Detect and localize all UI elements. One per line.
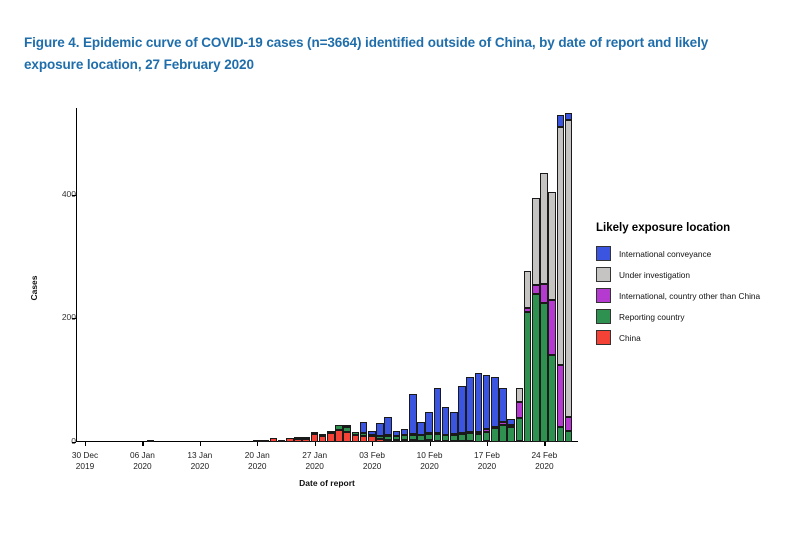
bar-segment — [557, 427, 565, 442]
bar-segment — [261, 440, 269, 442]
bar-segment — [475, 373, 483, 432]
bar — [401, 429, 409, 442]
bar-segment — [475, 434, 483, 442]
bar-segment — [327, 433, 335, 442]
bar-segment — [524, 308, 532, 312]
bar-segment — [360, 436, 368, 442]
x-tick-mark — [372, 442, 373, 446]
legend-items: International conveyanceUnder investigat… — [596, 243, 796, 348]
bar-segment — [253, 440, 261, 442]
legend-swatch — [596, 309, 611, 324]
bar — [261, 440, 269, 442]
bar-segment — [483, 375, 491, 429]
bar-segment — [434, 388, 442, 433]
bar-segment — [417, 435, 425, 441]
bar-segment — [376, 423, 384, 437]
bar-segment — [302, 439, 310, 442]
x-tick-mark — [487, 442, 488, 446]
bar — [278, 440, 286, 442]
bar — [335, 425, 343, 442]
bar-segment — [491, 426, 499, 428]
bar — [524, 271, 532, 442]
bar-segment — [532, 198, 540, 285]
bar-segment — [557, 127, 565, 365]
bar-segment — [376, 439, 384, 442]
bar — [425, 412, 433, 442]
bar-series-container — [76, 108, 578, 442]
x-tick-mark — [430, 442, 431, 446]
bar-segment — [565, 120, 573, 417]
bar-segment — [343, 432, 351, 443]
bar-segment — [499, 422, 507, 425]
bar-segment — [368, 431, 376, 435]
bar-segment — [516, 402, 524, 418]
bar-segment — [442, 407, 450, 435]
bar-segment — [352, 435, 360, 442]
bar — [466, 377, 474, 442]
bar-segment — [319, 434, 327, 436]
bar — [343, 427, 351, 442]
bar-segment — [302, 437, 310, 439]
y-tick: 400 — [36, 190, 76, 200]
bar-segment — [442, 435, 450, 441]
bar-segment — [294, 439, 302, 442]
bar-segment — [475, 432, 483, 434]
bar — [302, 438, 310, 442]
bar-segment — [499, 425, 507, 442]
bar-segment — [417, 422, 425, 434]
bar — [270, 438, 278, 442]
legend-item: China — [596, 327, 796, 348]
bar-segment — [147, 440, 155, 442]
bar-segment — [516, 388, 524, 402]
bar-segment — [507, 419, 515, 425]
bar-segment — [466, 433, 474, 442]
bar-segment — [450, 412, 458, 434]
bar-segment — [540, 173, 548, 284]
legend-item: Under investigation — [596, 264, 796, 285]
x-axis-title: Date of report — [247, 478, 407, 488]
bar-segment — [376, 436, 384, 438]
bar-segment — [483, 432, 491, 442]
bar — [491, 377, 499, 442]
bar-segment — [319, 436, 327, 442]
bar-segment — [278, 440, 286, 442]
bar — [327, 432, 335, 442]
bar-segment — [491, 428, 499, 442]
legend: Likely exposure location International c… — [596, 222, 796, 348]
bar-segment — [311, 432, 319, 434]
y-tick-mark — [72, 442, 76, 443]
bar-segment — [425, 440, 433, 442]
legend-item: International conveyance — [596, 243, 796, 264]
bar-segment — [368, 436, 376, 442]
bar — [253, 441, 261, 442]
bar — [442, 407, 450, 442]
bar — [516, 388, 524, 442]
bar-segment — [557, 365, 565, 427]
x-tick-mark — [85, 442, 86, 446]
bar-segment — [458, 386, 466, 432]
bar-segment — [352, 432, 360, 435]
bar — [434, 388, 442, 442]
bar — [409, 394, 417, 442]
bar — [319, 435, 327, 442]
legend-swatch — [596, 246, 611, 261]
legend-swatch — [596, 267, 611, 282]
bar — [376, 423, 384, 442]
legend-item: International, country other than China — [596, 285, 796, 306]
y-tick: 0 — [36, 437, 76, 447]
bar-segment — [491, 377, 499, 426]
bar — [417, 422, 425, 442]
bar — [368, 431, 376, 442]
x-tick-mark — [315, 442, 316, 446]
bar-segment — [384, 436, 392, 440]
bar-segment — [327, 431, 335, 433]
bar-segment — [548, 300, 556, 356]
bar — [507, 419, 515, 443]
bar — [475, 373, 483, 442]
bar-segment — [466, 377, 474, 431]
bar-segment — [401, 435, 409, 440]
x-tick-mark — [257, 442, 258, 446]
y-tick: 200 — [36, 313, 76, 323]
x-tick-mark — [142, 442, 143, 446]
bar — [393, 431, 401, 442]
bar-segment — [540, 303, 548, 442]
bar-segment — [360, 422, 368, 433]
bar — [294, 438, 302, 442]
bar — [286, 438, 294, 442]
bar-segment — [507, 427, 515, 442]
bar-segment — [532, 294, 540, 442]
bar-segment — [311, 434, 319, 442]
bar-segment — [524, 271, 532, 308]
bar-segment — [335, 425, 343, 430]
bar — [499, 388, 507, 442]
bar-segment — [458, 434, 466, 441]
bar-segment — [540, 284, 548, 303]
legend-item: Reporting country — [596, 306, 796, 327]
bar-segment — [524, 312, 532, 442]
legend-title: Likely exposure location — [596, 222, 796, 234]
bar-segment — [401, 440, 409, 442]
bar-segment — [384, 417, 392, 436]
bar-segment — [425, 434, 433, 440]
bar-segment — [409, 440, 417, 442]
bar — [458, 386, 466, 442]
bar-segment — [401, 429, 409, 435]
bar-segment — [565, 431, 573, 442]
bar-segment — [294, 437, 302, 439]
bar — [557, 115, 565, 442]
y-axis-title: Cases — [29, 248, 39, 328]
bar-segment — [548, 355, 556, 442]
bar-segment — [343, 425, 351, 427]
bar — [360, 422, 368, 442]
bar-segment — [335, 430, 343, 442]
bar-segment — [565, 417, 573, 431]
bar-segment — [532, 285, 540, 294]
bar — [311, 433, 319, 442]
bar-segment — [409, 394, 417, 434]
legend-label: China — [619, 333, 641, 343]
bar-segment — [368, 434, 376, 436]
bar-segment — [393, 440, 401, 442]
bar — [450, 412, 458, 442]
bar-segment — [483, 429, 491, 431]
bar-segment — [434, 434, 442, 441]
bar-segment — [393, 436, 401, 440]
legend-label: Under investigation — [619, 270, 690, 280]
bar-segment — [286, 438, 294, 442]
bar-segment — [516, 418, 524, 442]
bar — [483, 375, 491, 442]
bar-segment — [565, 113, 573, 120]
legend-label: International, country other than China — [619, 291, 760, 301]
bar-segment — [507, 425, 515, 427]
bar-segment — [393, 431, 401, 436]
x-tick-mark — [544, 442, 545, 446]
bar — [147, 441, 155, 442]
bar-segment — [360, 433, 368, 435]
legend-label: International conveyance — [619, 249, 711, 259]
x-tick-label: 24 Feb2020 — [509, 450, 579, 471]
bar — [384, 417, 392, 442]
legend-label: Reporting country — [619, 312, 685, 322]
bar-segment — [270, 438, 278, 442]
legend-swatch — [596, 288, 611, 303]
bar — [532, 198, 540, 442]
bar-segment — [499, 388, 507, 422]
bar-segment — [450, 435, 458, 441]
bar — [540, 173, 548, 442]
bar-segment — [409, 435, 417, 439]
bar — [548, 192, 556, 443]
bar-segment — [384, 440, 392, 442]
x-tick-mark — [200, 442, 201, 446]
bar-segment — [557, 115, 565, 126]
legend-swatch — [596, 330, 611, 345]
bar — [352, 432, 360, 442]
bar-segment — [425, 412, 433, 434]
bar-segment — [548, 192, 556, 300]
bar — [565, 113, 573, 442]
bar-segment — [343, 427, 351, 431]
